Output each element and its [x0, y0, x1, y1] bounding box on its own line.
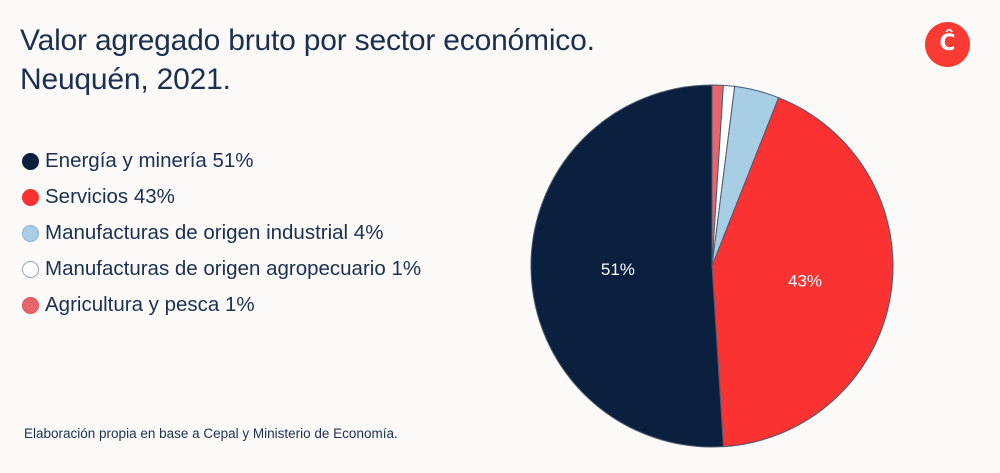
legend-item-label: Manufacturas de origen agropecuario 1% [45, 257, 421, 281]
title-line-1: Valor agregado bruto por sector económic… [20, 21, 720, 60]
chart-canvas: Valor agregado bruto por sector económic… [0, 0, 1000, 473]
legend-bullet-icon [22, 225, 39, 242]
legend-bullet-icon [22, 153, 39, 170]
pie-chart: 43%51% [528, 82, 896, 450]
legend-item-label: Energía y minería 51% [45, 149, 254, 173]
legend-item-manufacturas-agropecuario[interactable]: Manufacturas de origen agropecuario 1% [22, 251, 502, 287]
legend-bullet-icon [22, 189, 39, 206]
legend-item-energia[interactable]: Energía y minería 51% [22, 143, 502, 179]
c-circumflex-badge-icon[interactable]: Ĉ [925, 22, 970, 67]
legend-bullet-icon [22, 261, 39, 278]
pie-slice-label: 51% [601, 260, 635, 279]
legend-item-servicios[interactable]: Servicios 43% [22, 179, 502, 215]
chart-legend: Energía y minería 51% Servicios 43% Manu… [22, 143, 502, 323]
pie-chart-svg: 43%51% [528, 82, 896, 450]
legend-item-agricultura-pesca[interactable]: Agricultura y pesca 1% [22, 287, 502, 323]
pie-slice-label: 43% [788, 272, 822, 291]
legend-item-label: Servicios 43% [45, 185, 175, 209]
chart-source-note: Elaboración propia en base a Cepal y Min… [24, 425, 398, 443]
legend-item-manufacturas-industrial[interactable]: Manufacturas de origen industrial 4% [22, 215, 502, 251]
badge-glyph: Ĉ [939, 33, 955, 55]
legend-bullet-icon [22, 297, 39, 314]
legend-item-label: Manufacturas de origen industrial 4% [45, 221, 383, 245]
legend-item-label: Agricultura y pesca 1% [45, 293, 255, 317]
